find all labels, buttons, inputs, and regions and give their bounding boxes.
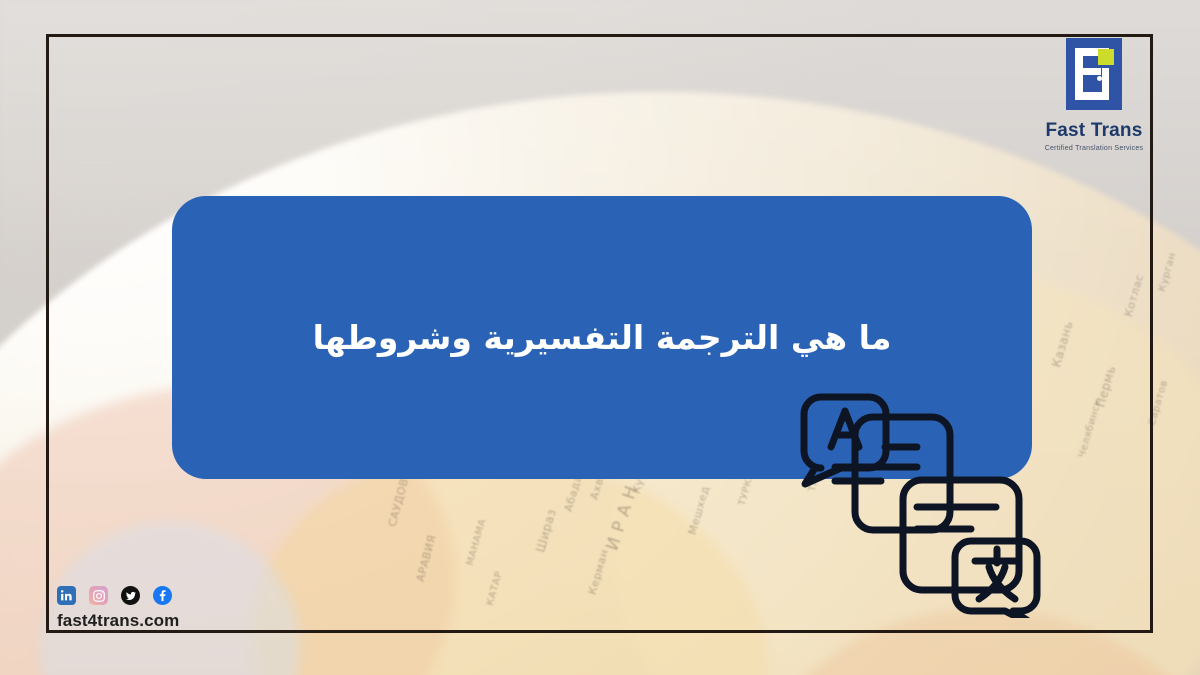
fast-trans-logo-icon [1066, 38, 1122, 110]
linkedin-icon[interactable] [57, 586, 76, 605]
facebook-icon[interactable] [153, 586, 172, 605]
page-title: ما هي الترجمة التفسيرية وشروطها [273, 313, 932, 363]
footer: fast4trans.com [57, 586, 179, 631]
translation-speech-bubbles-icon [793, 381, 1043, 618]
twitter-icon[interactable] [121, 586, 140, 605]
logo-accent-square [1098, 49, 1114, 65]
instagram-icon[interactable] [89, 586, 108, 605]
brand-tagline: Certified Translation Services [1045, 145, 1144, 152]
brand-name: Fast Trans [1045, 120, 1142, 142]
site-url[interactable]: fast4trans.com [57, 611, 179, 631]
brand-logo[interactable]: Fast Trans Certified Translation Service… [1035, 33, 1153, 163]
social-links [57, 586, 179, 605]
